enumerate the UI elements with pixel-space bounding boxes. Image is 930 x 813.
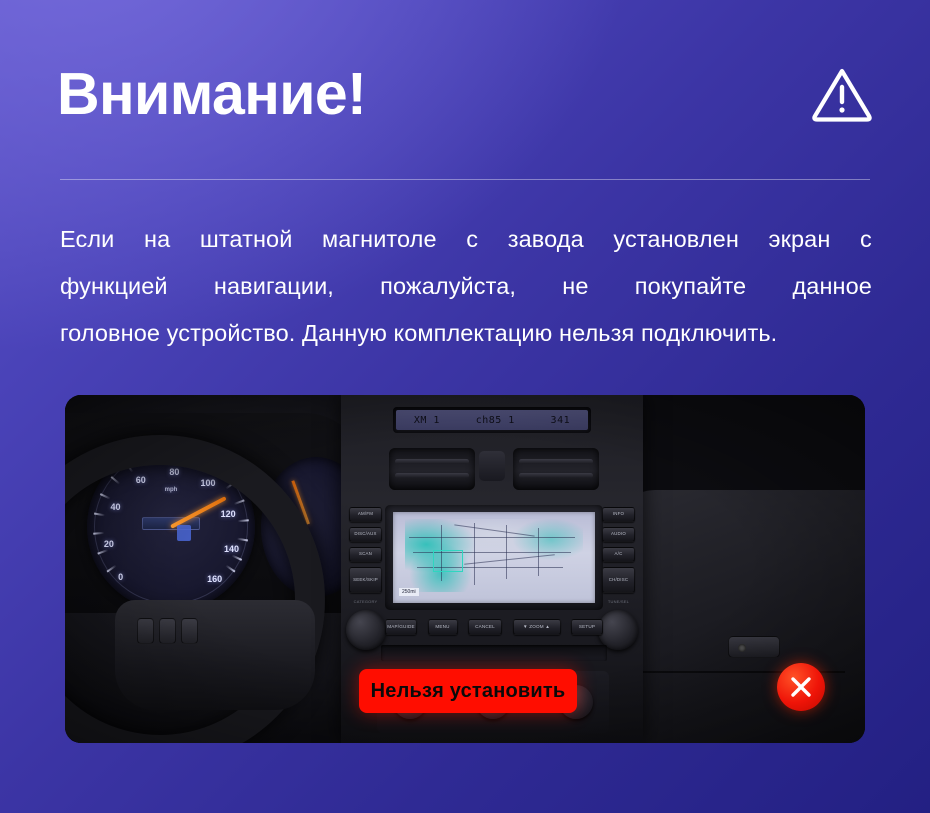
navigation-button-row: MAP/GUIDE MENU CANCEL ▼ ZOOM ▲ SETUP — [385, 619, 603, 635]
tune-sel-label: TUNE/SEL — [602, 598, 635, 606]
notice-word: штатной — [200, 216, 293, 263]
lcd-segment-source: XM 1 — [414, 415, 440, 426]
factory-navigation-screen-bezel: 250mi — [385, 505, 603, 610]
notice-line-1: Если на штатной магнитоле с завода устан… — [60, 216, 872, 263]
notice-word: на — [144, 216, 170, 263]
notice-word: пожалуйста, — [380, 263, 516, 310]
map-guide-button[interactable]: MAP/GUIDE — [385, 619, 417, 635]
cannot-install-label[interactable]: Нельзя установить — [359, 669, 577, 713]
info-button[interactable]: INFO — [602, 507, 635, 522]
ac-button[interactable]: A/C — [602, 547, 635, 562]
disc-aux-button[interactable]: DISC/AUX — [349, 527, 382, 542]
map-cursor-box — [433, 550, 463, 572]
factory-navigation-screen[interactable]: 250mi — [393, 512, 595, 603]
air-vent-left — [389, 448, 475, 490]
notice-word: завода — [508, 216, 584, 263]
seek-skip-button[interactable]: SEEK/SKIP — [349, 567, 382, 593]
x-mark-icon — [788, 674, 814, 700]
notice-word: покупайте — [635, 263, 746, 310]
left-console-buttons: AM/FM DISC/AUX SCAN SEEK/SKIP CATEGORY — [349, 507, 382, 606]
lcd-segment-preset: 341 — [551, 415, 571, 426]
steering-wheel-hub — [115, 600, 315, 710]
notice-word: установлен — [613, 216, 739, 263]
glovebox-handle — [728, 636, 780, 658]
header: Внимание! — [57, 46, 873, 142]
setup-button[interactable]: SETUP — [571, 619, 603, 635]
notice-word: функцией — [60, 263, 168, 310]
notice-word: не — [562, 263, 588, 310]
notice-text: Если на штатной магнитоле с завода устан… — [60, 216, 872, 357]
steering-control-button — [159, 618, 176, 644]
right-console-buttons: INFO AUDIO A/C CH/DISC TUNE/SEL — [602, 507, 635, 606]
dashboard-photo: 0 20 40 60 80 100 120 140 160 mph — [65, 395, 865, 743]
notice-word: с — [860, 216, 872, 263]
notice-word: с — [466, 216, 478, 263]
notice-word: Если — [60, 216, 114, 263]
ch-disc-button[interactable]: CH/DISC — [602, 567, 635, 593]
air-vent-right — [513, 448, 599, 490]
header-divider — [60, 179, 870, 180]
steering-control-button — [181, 618, 198, 644]
radio-lcd-display: XM 1 ch85 1 341 — [393, 407, 591, 433]
promo-warning-banner: Внимание! Если на штатной магнитоле с за… — [0, 0, 930, 813]
zoom-button[interactable]: ▼ ZOOM ▲ — [513, 619, 561, 635]
menu-button[interactable]: MENU — [428, 619, 458, 635]
page-title: Внимание! — [57, 65, 366, 124]
notice-line-2: функцией навигации, пожалуйста, не покуп… — [60, 263, 872, 310]
cd-slot — [381, 645, 607, 661]
passenger-dash-panel — [615, 490, 865, 743]
volume-knob[interactable] — [346, 610, 386, 650]
cancel-button[interactable]: CANCEL — [468, 619, 502, 635]
steering-control-button — [137, 618, 154, 644]
notice-word: данное — [792, 263, 871, 310]
notice-word: экран — [769, 216, 831, 263]
map-scale-label: 250mi — [399, 588, 419, 596]
tune-knob[interactable] — [598, 610, 638, 650]
notice-word: навигации, — [214, 263, 334, 310]
notice-word: магнитоле — [322, 216, 437, 263]
lcd-segment-channel: ch85 1 — [476, 415, 515, 426]
warning-triangle-icon — [811, 66, 873, 122]
scan-button[interactable]: SCAN — [349, 547, 382, 562]
notice-line-3: головное устройство. Данную комплектацию… — [60, 310, 872, 357]
x-circle-icon — [777, 663, 825, 711]
amfm-button[interactable]: AM/FM — [349, 507, 382, 522]
hazard-button[interactable] — [479, 451, 505, 481]
audio-button[interactable]: AUDIO — [602, 527, 635, 542]
category-label: CATEGORY — [349, 598, 382, 606]
